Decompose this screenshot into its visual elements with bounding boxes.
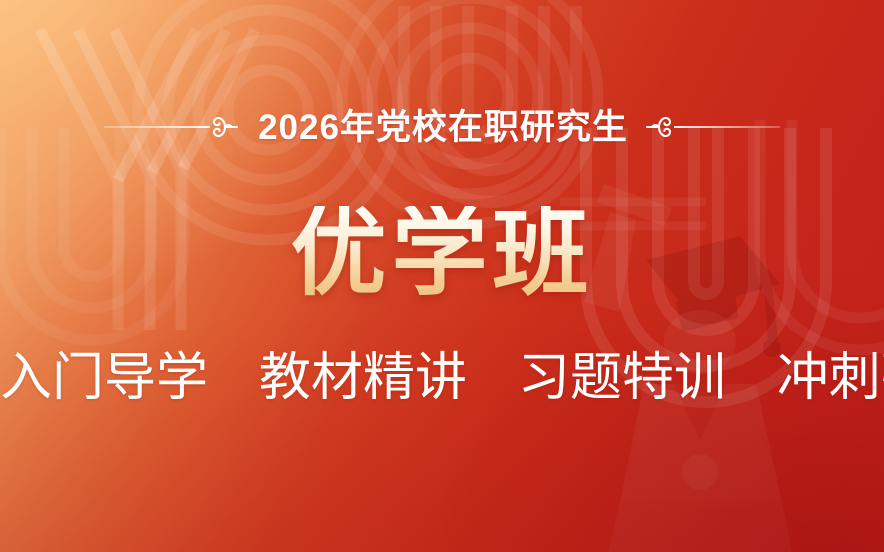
feature-item-4: 冲刺强化 xyxy=(777,349,884,407)
header-row: 2026年党校在职研究生 xyxy=(0,104,884,150)
cloud-swirl-icon-right xyxy=(646,112,672,142)
header-rule-left xyxy=(104,126,210,128)
feature-item-2: 教材精讲 xyxy=(259,349,467,407)
feature-item-3: 习题特训 xyxy=(518,349,726,407)
cloud-swirl-icon-left xyxy=(212,112,238,142)
promo-banner: 2026年党校在职研究生 优学班 入门导学 教材精讲 习题特训 冲刺强化 xyxy=(0,0,884,552)
main-title: 优学班 xyxy=(0,206,884,302)
header-rule-right xyxy=(674,126,780,128)
feature-item-1: 入门导学 xyxy=(0,349,208,407)
feature-line: 入门导学 教材精讲 习题特训 冲刺强化 xyxy=(0,352,884,404)
header-title: 2026年党校在职研究生 xyxy=(240,110,644,145)
